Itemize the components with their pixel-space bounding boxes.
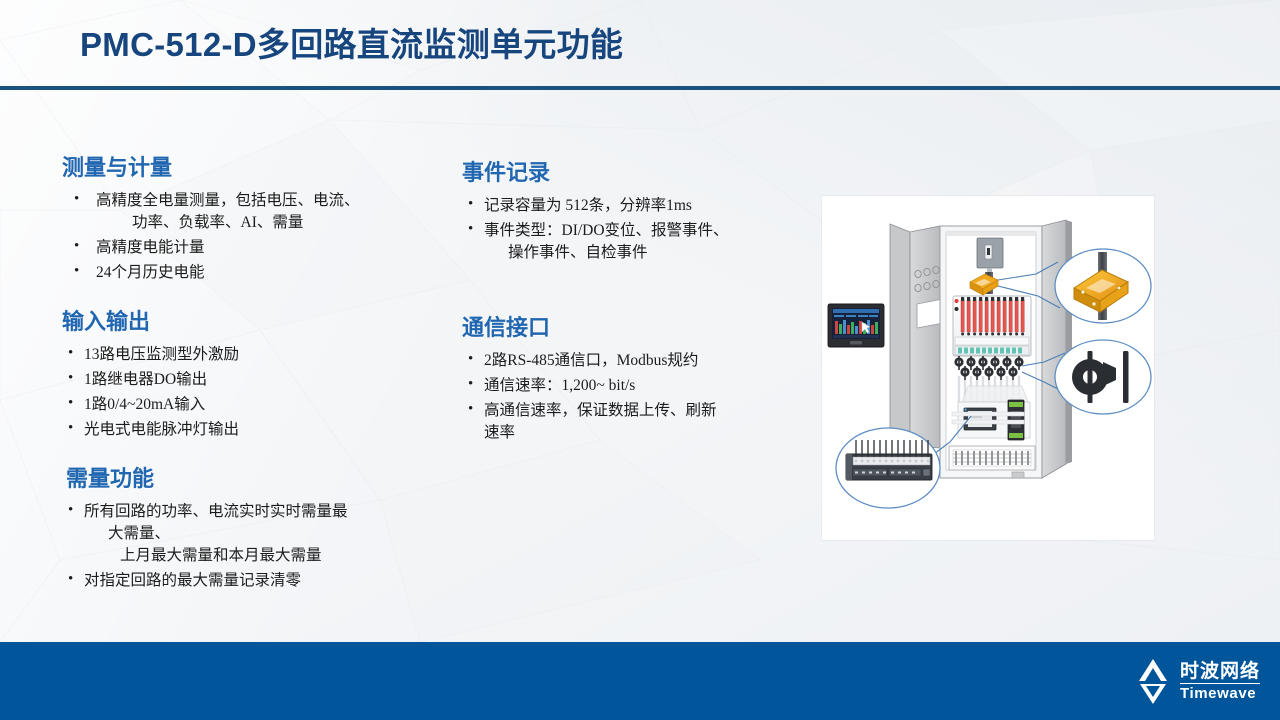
callout-terminal-block: [836, 428, 940, 508]
logo-english-name: Timewave: [1180, 684, 1260, 701]
hmi-touch-panel-icon: [828, 304, 884, 347]
bullet-list-io: 13路电压监测型外激励 1路继电器DO输出 1路0/4~20mA输入 光电式电能…: [62, 344, 462, 441]
list-item: 通信速率：1,200~ bit/s: [462, 375, 802, 397]
list-item: 高精度电能计量: [62, 237, 462, 259]
page-title: PMC-512-D多回路直流监测单元功能: [80, 18, 623, 66]
slide-footer: 时波网络 Timewave: [0, 642, 1280, 720]
bullet-text: 光电式电能脉冲灯输出: [84, 421, 239, 438]
bullet-text: 24个月历史电能: [96, 264, 205, 281]
callout-split-core-ct: [1055, 340, 1151, 414]
section-heading-io: 输入输出: [62, 304, 462, 336]
list-item: 事件类型：DI/DO变位、报警事件、 操作事件、自检事件: [462, 220, 802, 264]
bullet-text: 对指定回路的最大需量记录清零: [84, 572, 301, 589]
list-item: 高通信速率，保证数据上传、刷新 速率: [462, 400, 802, 444]
bullet-list-demand: 所有回路的功率、电流实时实时需量最 大需量、 上月最大需量和本月最大需量 对指定…: [62, 501, 462, 592]
slide-canvas: PMC-512-D多回路直流监测单元功能 测量与计量 高精度全电量测量，包括电压…: [0, 0, 1280, 720]
bullet-text: 记录容量为 512条，分辨率1ms: [484, 197, 692, 214]
bottom-device-group: [952, 400, 1030, 440]
bullet-text-continuation: 操作事件、自检事件: [484, 242, 802, 264]
bullet-text: 通信速率：1,200~ bit/s: [484, 377, 635, 394]
company-logo: 时波网络 Timewave: [1132, 654, 1260, 708]
bullet-list-event-log: 记录容量为 512条，分辨率1ms 事件类型：DI/DO变位、报警事件、 操作事…: [462, 195, 802, 264]
cabinet-right-door: [1042, 220, 1072, 478]
logo-wordmark: 时波网络 Timewave: [1180, 662, 1260, 701]
logo-chinese-name: 时波网络: [1180, 662, 1260, 684]
section-heading-measurement: 测量与计量: [62, 150, 462, 182]
callout-open-core-ct: [1055, 249, 1151, 323]
content-column-middle: 事件记录 记录容量为 512条，分辨率1ms 事件类型：DI/DO变位、报警事件…: [462, 155, 802, 464]
list-item: 光电式电能脉冲灯输出: [62, 419, 462, 441]
bullet-text: 所有回路的功率、电流实时实时需量最: [84, 503, 348, 520]
slide-header: PMC-512-D多回路直流监测单元功能: [0, 0, 1280, 88]
list-item: 13路电压监测型外激励: [62, 344, 462, 366]
list-item: 2路RS-485通信口，Modbus规约: [462, 350, 802, 372]
bullet-text: 高精度电能计量: [96, 239, 205, 256]
list-item: 对指定回路的最大需量记录清零: [62, 570, 462, 592]
bullet-text: 1路0/4~20mA输入: [84, 396, 205, 413]
list-item: 所有回路的功率、电流实时实时需量最 大需量、 上月最大需量和本月最大需量: [62, 501, 462, 567]
product-illustration: [822, 196, 1154, 540]
bullet-text: 2路RS-485通信口，Modbus规约: [484, 352, 698, 369]
breaker-assembly-panel: [953, 296, 1031, 356]
bullet-text: 13路电压监测型外激励: [84, 346, 239, 363]
section-heading-comm: 通信接口: [462, 310, 802, 342]
section-heading-event-log: 事件记录: [462, 155, 802, 187]
bullet-text-continuation-a: 大需量、: [84, 523, 462, 545]
title-divider-rule: [0, 86, 1280, 90]
section-heading-demand: 需量功能: [66, 461, 462, 493]
list-item: 1路0/4~20mA输入: [62, 394, 462, 416]
bullet-text-continuation: 速率: [484, 422, 802, 444]
bullet-text-continuation-b: 上月最大需量和本月最大需量: [84, 545, 462, 567]
bullet-text: 高精度全电量测量，包括电压、电流、: [96, 192, 360, 209]
list-item: 记录容量为 512条，分辨率1ms: [462, 195, 802, 217]
bullet-text: 事件类型：DI/DO变位、报警事件、: [484, 222, 729, 239]
bullet-list-comm: 2路RS-485通信口，Modbus规约 通信速率：1,200~ bit/s 高…: [462, 350, 802, 444]
list-item: 高精度全电量测量，包括电压、电流、 功率、负载率、AI、需量: [62, 190, 462, 234]
list-item: 24个月历史电能: [62, 262, 462, 284]
bullet-text: 1路继电器DO输出: [84, 371, 207, 388]
bullet-text: 高通信速率，保证数据上传、刷新: [484, 402, 717, 419]
cabinet-left-door: [890, 224, 943, 448]
timewave-wave-mark-icon: [1132, 656, 1174, 706]
content-column-left: 测量与计量 高精度全电量测量，包括电压、电流、 功率、负载率、AI、需量 高精度…: [62, 150, 462, 612]
list-item: 1路继电器DO输出: [62, 369, 462, 391]
bullet-text-continuation: 功率、负载率、AI、需量: [96, 212, 462, 234]
bullet-list-measurement: 高精度全电量测量，包括电压、电流、 功率、负载率、AI、需量 高精度电能计量 2…: [62, 190, 462, 284]
cabinet-diagram-icon: [822, 196, 1154, 540]
